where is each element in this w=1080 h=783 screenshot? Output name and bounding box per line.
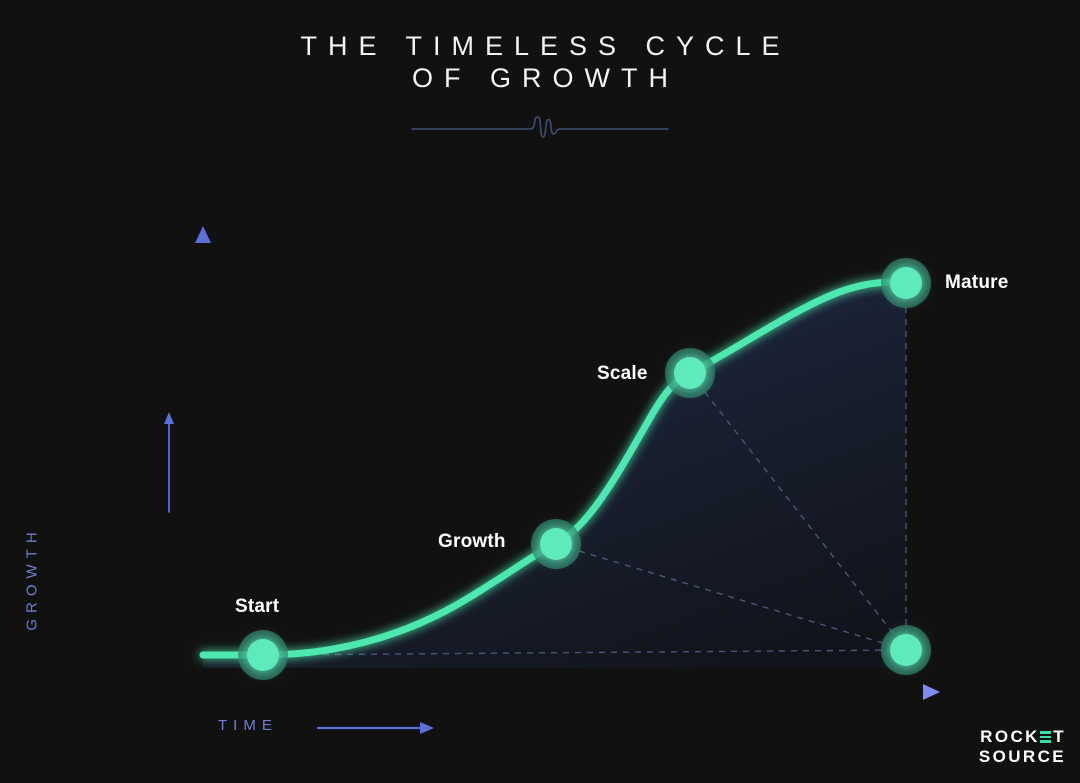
node-mature[interactable]	[881, 258, 931, 308]
logo-text-rock: ROCK	[980, 727, 1040, 746]
node-reset[interactable]	[881, 625, 931, 675]
node-scale[interactable]	[665, 348, 715, 398]
logo-line-rocket: ROCKT	[979, 728, 1066, 745]
logo-line-source: SOURCE	[979, 748, 1066, 765]
y-axis-direction-arrow-icon	[164, 412, 174, 512]
x-axis-label: TIME	[218, 717, 278, 734]
node-growth[interactable]	[531, 519, 581, 569]
logo-text-t: T	[1053, 727, 1066, 746]
chart-canvas	[0, 0, 1080, 783]
node-label-mature: Mature	[945, 272, 1009, 294]
growth-chart: GROWTH TIME Start Growth Scale Mature	[0, 0, 1080, 783]
y-axis-label: GROWTH	[24, 524, 41, 634]
rocketsource-logo: ROCKT SOURCE	[979, 728, 1066, 765]
node-label-growth: Growth	[438, 531, 506, 553]
infographic-page: THE TIMELESS CYCLE OF GROWTH	[0, 0, 1080, 783]
curve-area-fill	[203, 282, 906, 668]
node-label-scale: Scale	[597, 363, 648, 385]
x-axis-arrowhead-icon	[923, 684, 940, 700]
x-axis-direction-arrow-icon	[318, 722, 434, 734]
node-start[interactable]	[238, 630, 288, 680]
node-label-start: Start	[235, 596, 279, 618]
y-axis-arrowhead-icon	[195, 226, 211, 243]
logo-e-bars-icon	[1040, 731, 1051, 743]
